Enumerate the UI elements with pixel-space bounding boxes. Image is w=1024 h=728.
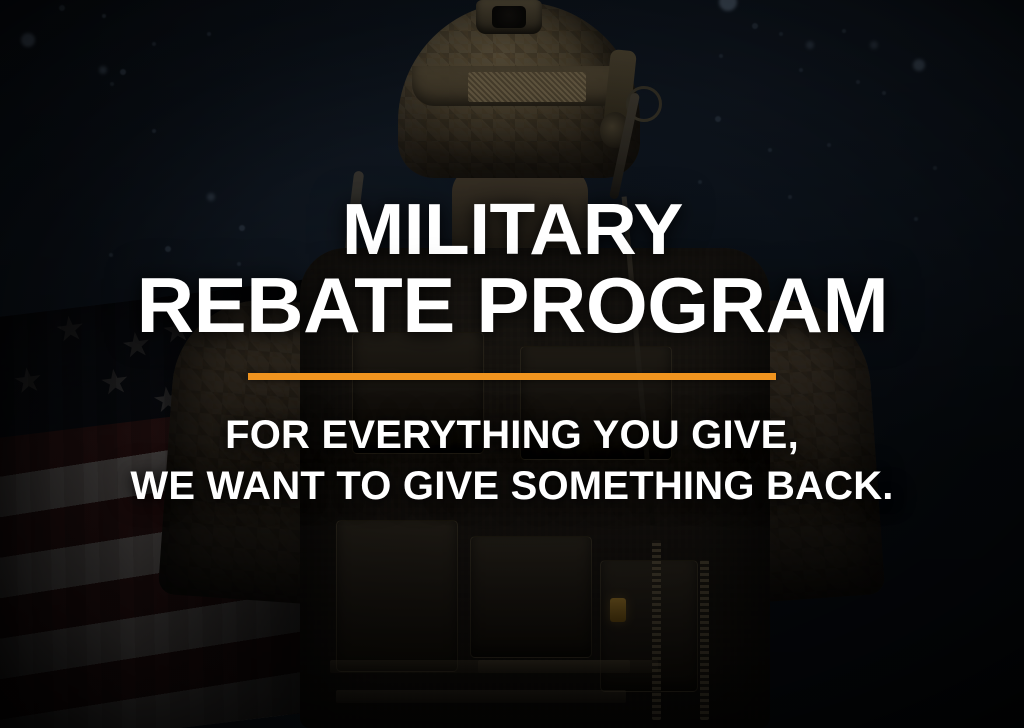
headline-line-2: REBATE PROGRAM xyxy=(136,264,888,347)
page-title: MILITARY REBATE PROGRAM xyxy=(144,196,881,347)
accent-divider xyxy=(248,373,776,380)
tagline-line-2: WE WANT TO GIVE SOMETHING BACK. xyxy=(130,461,893,512)
military-rebate-banner: ★★★★★★ xyxy=(0,0,1024,728)
headline-line-1: MILITARY xyxy=(129,196,895,264)
tagline: FOR EVERYTHING YOU GIVE, WE WANT TO GIVE… xyxy=(130,410,893,512)
banner-content: MILITARY REBATE PROGRAM FOR EVERYTHING Y… xyxy=(0,0,1024,728)
tagline-line-1: FOR EVERYTHING YOU GIVE, xyxy=(130,410,893,461)
